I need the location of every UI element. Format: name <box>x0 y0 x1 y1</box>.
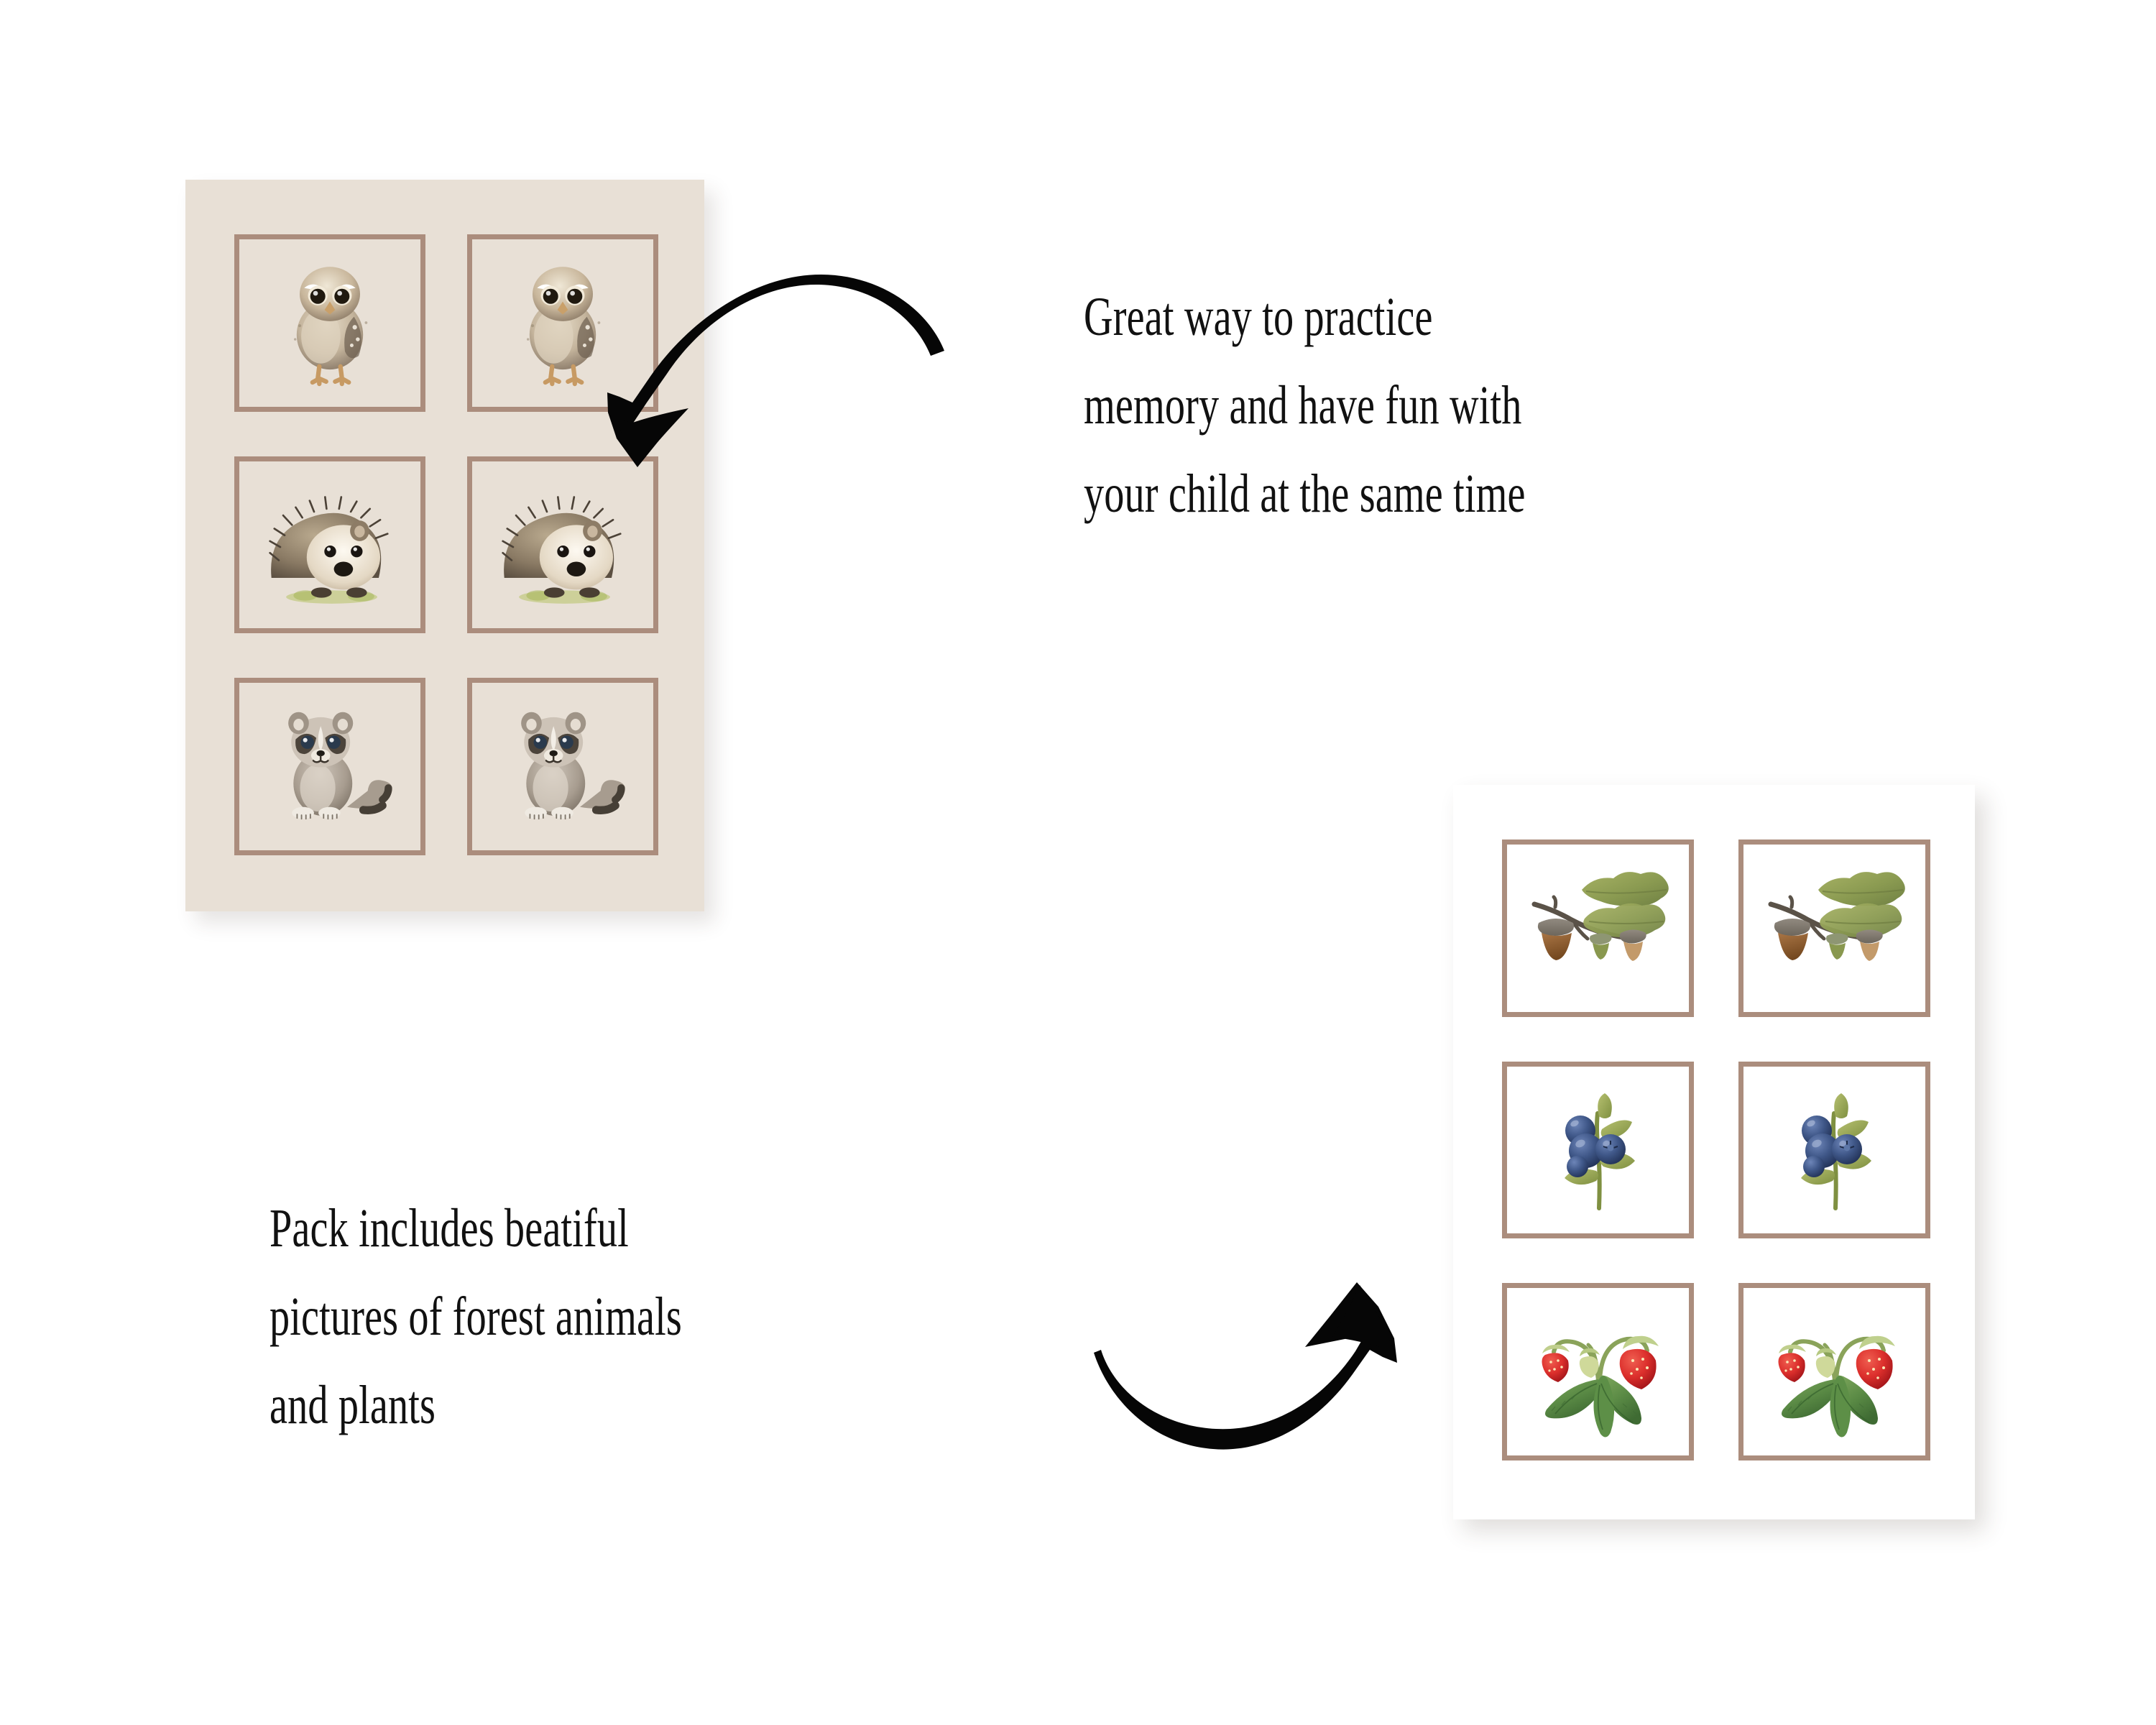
curved-arrow-down-left-icon <box>604 259 949 474</box>
strawberry-icon <box>1514 1294 1682 1449</box>
plants-card[interactable] <box>1453 785 1975 1519</box>
owl-icon <box>254 247 405 398</box>
oak-acorn-icon <box>1516 867 1681 989</box>
memory-card-cell-strawberry-2[interactable] <box>1738 1283 1930 1460</box>
blueberry-icon <box>1766 1082 1903 1218</box>
curved-arrow-up-right-icon <box>1092 1272 1409 1488</box>
memory-card-cell-strawberry-1[interactable] <box>1502 1283 1694 1460</box>
memory-card-cell-blueberry-1[interactable] <box>1502 1062 1694 1239</box>
arrow-to-plants-card <box>1092 1272 1409 1491</box>
memory-card-cell-raccoon-1[interactable] <box>234 678 425 855</box>
arrow-to-animals-card <box>604 259 949 478</box>
raccoon-icon <box>486 696 640 837</box>
memory-card-cell-oak-2[interactable] <box>1738 839 1930 1017</box>
memory-card-cell-hedgehog-1[interactable] <box>234 456 425 634</box>
memory-card-cell-raccoon-2[interactable] <box>467 678 658 855</box>
strawberry-icon <box>1750 1294 1919 1449</box>
memory-card-cell-blueberry-2[interactable] <box>1738 1062 1930 1239</box>
raccoon-icon <box>253 696 407 837</box>
hedgehog-icon <box>482 473 644 617</box>
pack-caption: Pack includes beatiful pictures of fores… <box>269 1184 682 1450</box>
memory-card-cell-hedgehog-2[interactable] <box>467 456 658 634</box>
memory-card-cell-oak-1[interactable] <box>1502 839 1694 1017</box>
blueberry-icon <box>1530 1082 1667 1218</box>
memory-caption: Great way to practice memory and have fu… <box>1084 273 1526 538</box>
memory-card-cell-owl-1[interactable] <box>234 234 425 412</box>
oak-acorn-icon <box>1752 867 1917 989</box>
hedgehog-icon <box>249 473 411 617</box>
product-feature-slide: Great way to practice memory and have fu… <box>0 0 2156 1725</box>
